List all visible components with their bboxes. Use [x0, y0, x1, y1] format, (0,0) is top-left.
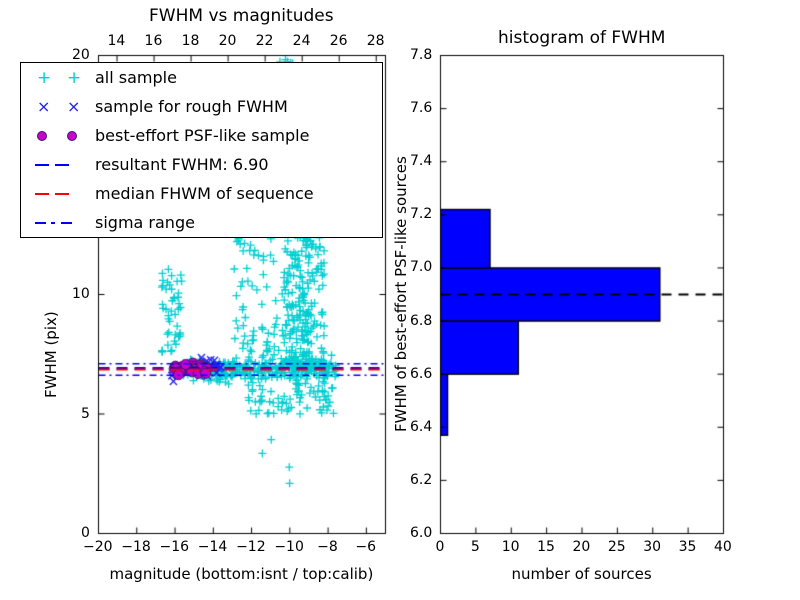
- legend-item-label: median FHWM of sequence: [95, 184, 314, 203]
- legend-marker-dashdot-icon: [21, 208, 95, 237]
- histogram-xtick-label: 25: [608, 539, 626, 555]
- histogram-ytick-label: 7.8: [410, 47, 432, 63]
- histogram-ytick-label: 6.0: [410, 525, 432, 541]
- legend-item-label: sample for rough FWHM: [95, 97, 288, 116]
- histogram-ytick-label: 7.0: [410, 259, 432, 275]
- line-dash-icon: [35, 164, 49, 166]
- scatter-top-xtick-label: 22: [256, 33, 274, 49]
- histogram-xtick-label: 30: [643, 539, 661, 555]
- histogram-y-axis-label: FWHM of best-effort PSF-like sources: [392, 156, 410, 432]
- line-dash-icon: [51, 222, 55, 224]
- scatter-y-axis-label: FWHM (pix): [42, 311, 60, 398]
- scatter-ytick-label: 10: [72, 286, 90, 302]
- scatter-xtick-label: −6: [355, 539, 376, 555]
- legend-marker-cross-icon: ××: [21, 92, 95, 121]
- scatter-xtick-label: −8: [317, 539, 338, 555]
- scatter-ytick-label: 5: [81, 406, 90, 422]
- histogram-xtick-label: 10: [502, 539, 520, 555]
- histogram-xtick-label: 0: [436, 539, 445, 555]
- legend-item-0: ++all sample: [21, 63, 382, 92]
- legend-marker-circle-icon: [21, 121, 95, 150]
- scatter-top-xtick-label: 28: [367, 33, 385, 49]
- legend-item-label: resultant FWHM: 6.90: [95, 155, 269, 174]
- scatter-top-xtick-label: 14: [108, 33, 126, 49]
- histogram-ytick-label: 6.2: [410, 472, 432, 488]
- filled-circle-icon: [37, 131, 47, 141]
- histogram-xtick-label: 35: [679, 539, 697, 555]
- scatter-top-xtick-label: 18: [182, 33, 200, 49]
- scatter-xtick-label: −16: [160, 539, 190, 555]
- legend-marker-dashed-icon: [21, 179, 95, 208]
- histogram-ytick-label: 7.4: [410, 153, 432, 169]
- line-dash-icon: [35, 193, 49, 195]
- histogram-ytick-label: 7.2: [410, 206, 432, 222]
- histogram-ytick-label: 6.6: [410, 366, 432, 382]
- legend-item-3: resultant FWHM: 6.90: [21, 150, 382, 179]
- scatter-ytick-label: 0: [81, 525, 90, 541]
- histogram-x-axis-label: number of sources: [512, 565, 652, 583]
- scatter-x-axis-label: magnitude (bottom:isnt / top:calib): [110, 565, 374, 583]
- line-dash-icon: [55, 193, 69, 195]
- scatter-xtick-label: −14: [198, 539, 228, 555]
- histogram-xtick-label: 15: [537, 539, 555, 555]
- line-dash-icon: [35, 222, 46, 224]
- filled-circle-icon: [67, 131, 77, 141]
- scatter-xtick-label: −10: [274, 539, 304, 555]
- scatter-top-xtick-label: 26: [330, 33, 348, 49]
- histogram-xtick-label: 5: [471, 539, 480, 555]
- legend-marker-plus-icon: ++: [21, 63, 95, 92]
- scatter-legend: ++all sample××sample for rough FWHMbest-…: [20, 62, 383, 238]
- histogram-title: histogram of FWHM: [498, 28, 665, 48]
- histogram-ytick-label: 6.4: [410, 419, 432, 435]
- scatter-xtick-label: −18: [121, 539, 151, 555]
- scatter-top-xtick-label: 16: [145, 33, 163, 49]
- legend-item-label: sigma range: [95, 213, 195, 232]
- legend-item-label: all sample: [95, 68, 177, 87]
- legend-item-5: sigma range: [21, 208, 382, 237]
- scatter-top-xtick-label: 20: [219, 33, 237, 49]
- scatter-top-xtick-label: 24: [293, 33, 311, 49]
- figure-canvas-container: FWHM vs magnitudes magnitude (bottom:isn…: [0, 0, 800, 600]
- legend-item-1: ××sample for rough FWHM: [21, 92, 382, 121]
- scatter-plot-title: FWHM vs magnitudes: [149, 6, 334, 26]
- histogram-xtick-label: 20: [573, 539, 591, 555]
- line-dash-icon: [61, 222, 72, 224]
- legend-item-label: best-effort PSF-like sample: [95, 126, 309, 145]
- legend-item-4: median FHWM of sequence: [21, 179, 382, 208]
- legend-marker-dashed-icon: [21, 150, 95, 179]
- histogram-ytick-label: 7.6: [410, 100, 432, 116]
- legend-item-2: best-effort PSF-like sample: [21, 121, 382, 150]
- histogram-xtick-label: 40: [714, 539, 732, 555]
- scatter-xtick-label: −20: [83, 539, 113, 555]
- line-dash-icon: [55, 164, 69, 166]
- scatter-ytick-label: 20: [72, 47, 90, 63]
- histogram-ytick-label: 6.8: [410, 313, 432, 329]
- scatter-xtick-label: −12: [236, 539, 266, 555]
